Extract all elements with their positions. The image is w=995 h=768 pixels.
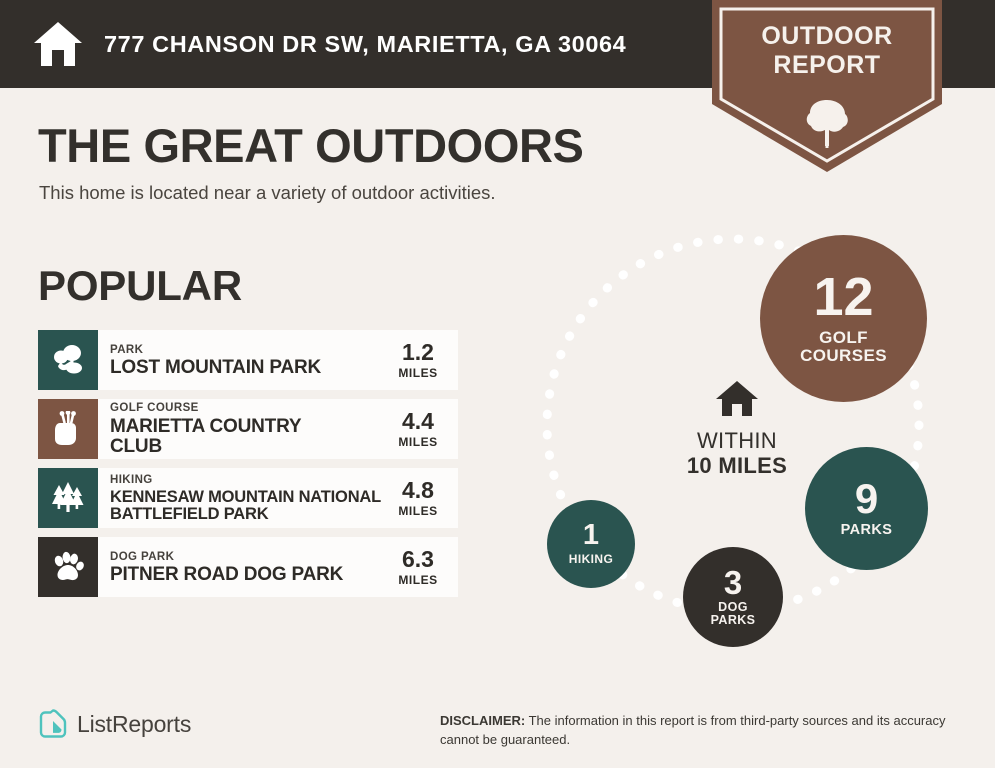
distance-value: 4.4 — [386, 410, 450, 433]
list-item-name: MARIETTA COUNTRY CLUB — [110, 417, 338, 458]
page-title: THE GREAT OUTDOORS — [38, 118, 584, 173]
popular-list: PARK LOST MOUNTAIN PARK 1.2 MILES — [38, 330, 458, 606]
badge-line-1: OUTDOOR — [712, 22, 942, 51]
list-item[interactable]: HIKING KENNESAW MOUNTAIN NATIONAL BATTLE… — [38, 468, 458, 528]
bubble-label-line-2: PARKS — [711, 614, 756, 627]
list-item-distance: 4.8 MILES — [386, 479, 450, 518]
distance-unit: MILES — [386, 504, 450, 518]
park-trees-icon — [38, 330, 98, 390]
list-item-labels: DOG PARK PITNER ROAD DOG PARK — [110, 549, 386, 586]
page-subtitle: This home is located near a variety of o… — [39, 182, 496, 204]
bubble-label: HIKING — [569, 553, 613, 566]
bubble-hiking[interactable]: 1 HIKING — [547, 500, 635, 588]
distance-value: 6.3 — [386, 548, 450, 571]
list-item-body: PARK LOST MOUNTAIN PARK 1.2 MILES — [98, 330, 458, 390]
within-10-miles-diagram: 12 GOLF COURSES 9 PARKS 3 DOG PARKS 1 HI… — [505, 215, 975, 665]
bubble-label-line-2: COURSES — [800, 347, 887, 365]
list-item-category: GOLF COURSE — [110, 402, 386, 415]
badge-line-2: REPORT — [712, 51, 942, 80]
list-item[interactable]: DOG PARK PITNER ROAD DOG PARK 6.3 MILES — [38, 537, 458, 597]
distance-unit: MILES — [386, 573, 450, 587]
bubble-count: 12 — [813, 272, 873, 323]
list-item[interactable]: PARK LOST MOUNTAIN PARK 1.2 MILES — [38, 330, 458, 390]
paw-print-icon — [38, 537, 98, 597]
listreports-logo[interactable]: ListReports — [38, 708, 191, 740]
list-item-distance: 1.2 MILES — [386, 341, 450, 380]
home-icon — [32, 20, 84, 68]
center-label-distance: 10 MILES — [657, 453, 817, 479]
list-item-category: DOG PARK — [110, 551, 386, 564]
distance-value: 1.2 — [386, 341, 450, 364]
center-label-within: WITHIN — [657, 428, 817, 454]
bubble-label-line-1: GOLF — [800, 329, 887, 347]
list-item-category: HIKING — [110, 474, 386, 487]
diagram-center-marker: WITHIN 10 MILES — [657, 380, 817, 479]
bubble-label: DOG PARKS — [711, 601, 756, 627]
bubble-count: 1 — [583, 522, 599, 550]
bubble-dog-parks[interactable]: 3 DOG PARKS — [683, 547, 783, 647]
list-item-category: PARK — [110, 344, 386, 357]
property-address: 777 CHANSON DR SW, MARIETTA, GA 30064 — [104, 31, 626, 58]
list-item-distance: 4.4 MILES — [386, 410, 450, 449]
bubble-label: GOLF COURSES — [800, 329, 887, 365]
distance-unit: MILES — [386, 366, 450, 380]
bubble-label: PARKS — [841, 523, 893, 538]
listreports-logo-text: ListReports — [77, 711, 191, 738]
list-item-name: KENNESAW MOUNTAIN NATIONAL BATTLEFIELD P… — [110, 489, 386, 524]
list-item-labels: HIKING KENNESAW MOUNTAIN NATIONAL BATTLE… — [110, 472, 386, 523]
bubble-count: 9 — [855, 479, 878, 519]
bubble-parks[interactable]: 9 PARKS — [805, 447, 928, 570]
golf-bag-icon — [38, 399, 98, 459]
disclaimer-label: DISCLAIMER: — [440, 713, 525, 728]
bubble-count: 3 — [724, 567, 742, 598]
list-item-labels: PARK LOST MOUNTAIN PARK — [110, 342, 386, 379]
list-item-body: GOLF COURSE MARIETTA COUNTRY CLUB 4.4 MI… — [98, 399, 458, 459]
bubble-golf-courses[interactable]: 12 GOLF COURSES — [760, 235, 927, 402]
section-title-popular: POPULAR — [38, 262, 242, 310]
distance-unit: MILES — [386, 435, 450, 449]
pine-trees-icon — [38, 468, 98, 528]
list-item-body: HIKING KENNESAW MOUNTAIN NATIONAL BATTLE… — [98, 468, 458, 528]
distance-value: 4.8 — [386, 479, 450, 502]
list-item-body: DOG PARK PITNER ROAD DOG PARK 6.3 MILES — [98, 537, 458, 597]
list-item-distance: 6.3 MILES — [386, 548, 450, 587]
badge-title: OUTDOOR REPORT — [712, 22, 942, 79]
home-icon — [715, 380, 759, 418]
list-item-name: LOST MOUNTAIN PARK — [110, 358, 386, 379]
listreports-house-logo — [38, 708, 68, 740]
disclaimer: DISCLAIMER: The information in this repo… — [440, 712, 960, 750]
list-item-labels: GOLF COURSE MARIETTA COUNTRY CLUB — [110, 400, 386, 457]
list-item-name: PITNER ROAD DOG PARK — [110, 565, 386, 586]
list-item[interactable]: GOLF COURSE MARIETTA COUNTRY CLUB 4.4 MI… — [38, 399, 458, 459]
outdoor-report-badge: OUTDOOR REPORT — [712, 0, 942, 172]
